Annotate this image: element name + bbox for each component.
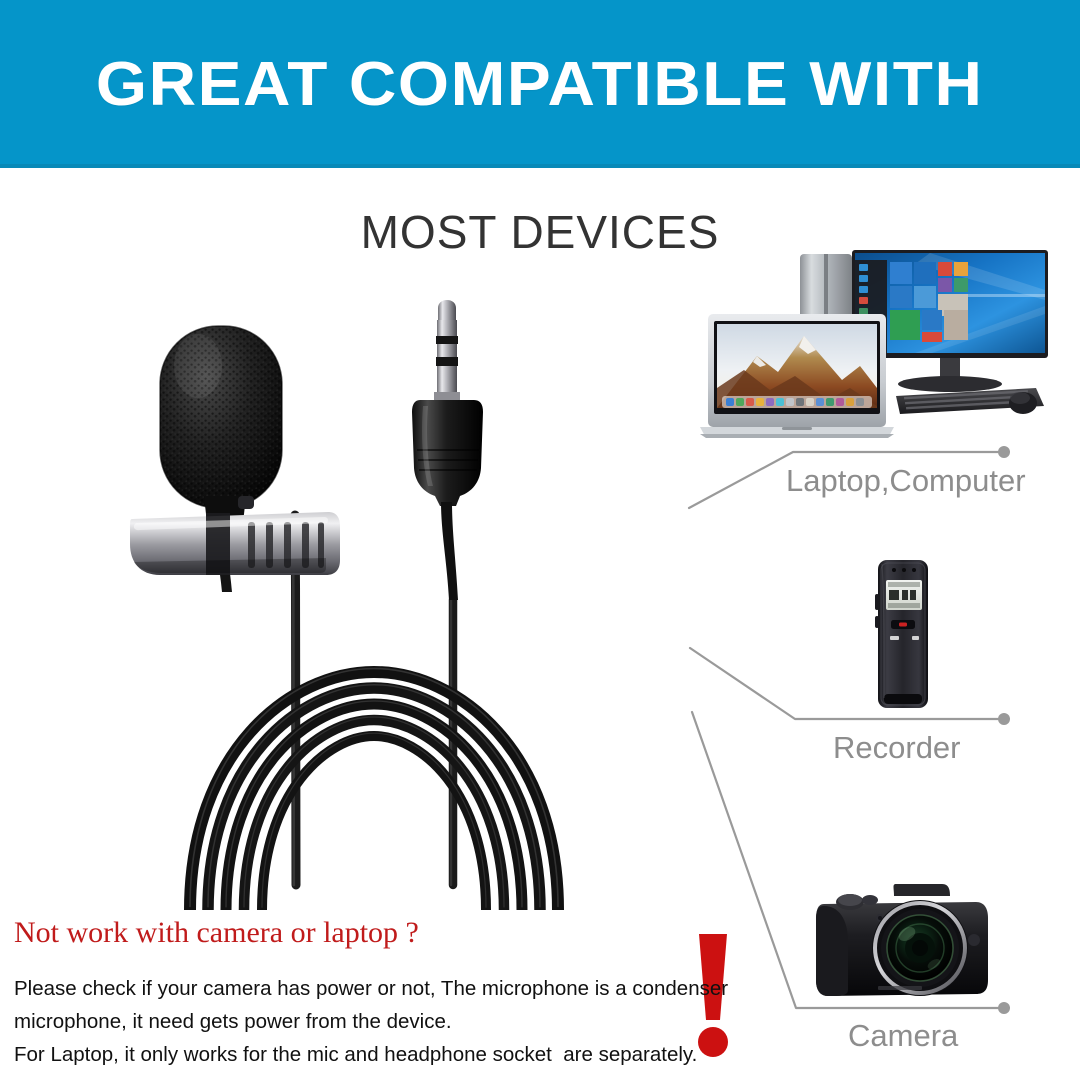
warning-body-line-1: Please check if your camera has power or… — [14, 972, 644, 1005]
infographic-page: GREAT COMPATIBLE WITH MOST DEVICES — [0, 0, 1080, 1072]
warning-body-line-2: microphone, it need gets power from the … — [14, 1005, 644, 1038]
warning-body: Please check if your camera has power or… — [14, 972, 644, 1071]
banner-underline — [0, 164, 1080, 168]
device-label-computer: Laptop,Computer — [786, 463, 1026, 499]
recorder-lcd-screen — [886, 580, 922, 610]
product-image-lavalier-microphone — [120, 300, 720, 910]
header-banner: GREAT COMPATIBLE WITH — [0, 0, 1080, 168]
warning-heading: Not work with camera or laptop ? — [14, 916, 419, 950]
mic-plug-3-5mm — [412, 300, 483, 600]
device-label-recorder: Recorder — [833, 730, 961, 766]
device-image-camera — [808, 878, 998, 1008]
warning-body-line-3: For Laptop, it only works for the mic an… — [14, 1038, 644, 1071]
leader-dot-recorder — [998, 713, 1010, 725]
leader-dot-camera — [998, 1002, 1010, 1014]
device-image-laptop-computer — [700, 248, 1060, 448]
start-menu-tiles — [890, 262, 968, 342]
page-title: GREAT COMPATIBLE WITH — [96, 49, 984, 120]
device-label-camera: Camera — [848, 1018, 958, 1054]
leader-line-recorder — [690, 648, 1000, 719]
recorder-record-button — [891, 620, 915, 629]
mic-windscreen — [160, 326, 282, 508]
device-image-recorder — [858, 558, 950, 710]
leader-line-endpoints — [998, 446, 1010, 1014]
mouse — [1009, 392, 1037, 414]
macbook-laptop — [700, 314, 894, 438]
camera-lens — [872, 900, 968, 996]
